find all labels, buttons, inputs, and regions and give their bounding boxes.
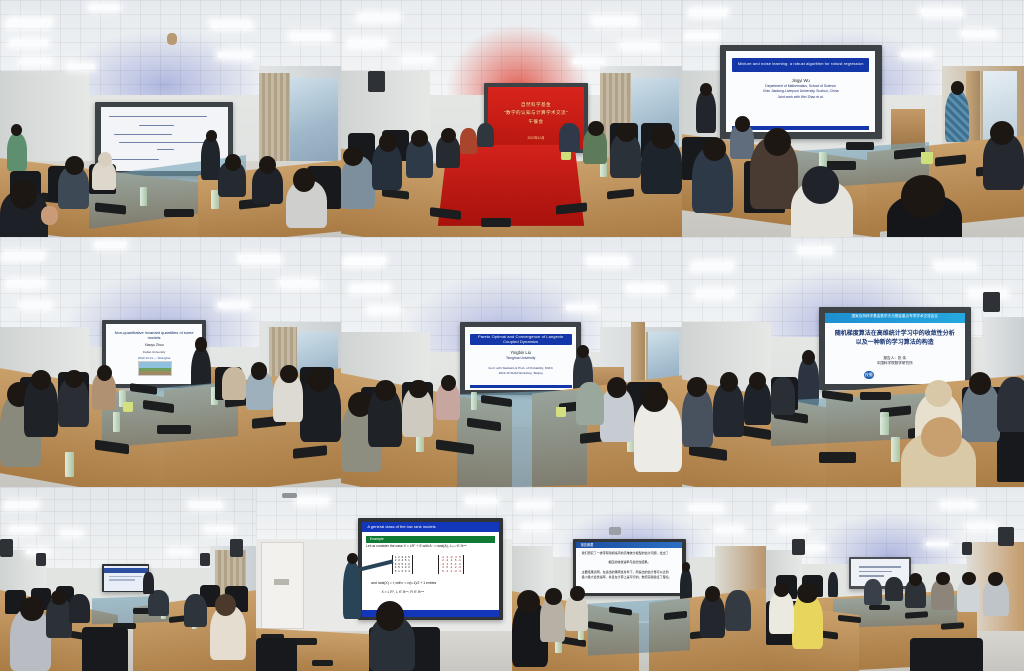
slide-author: Xiaoyu Zhou [116, 343, 192, 347]
attendee-head [570, 586, 584, 601]
door [261, 542, 304, 629]
ceiling-lamp [778, 527, 807, 532]
attendee-cap [802, 166, 840, 204]
ceiling-lamp [211, 21, 254, 28]
ceiling-lamp [6, 19, 53, 27]
speaker [945, 90, 969, 142]
drink-cup [123, 402, 133, 412]
ceiling-lamp [4, 502, 39, 508]
drink-cup [556, 407, 566, 417]
attendee-head [441, 128, 456, 143]
ceiling-lamp [95, 242, 126, 248]
slide-body: Let us consider the case X = LRᵀ + E wit… [366, 544, 495, 609]
microphone [869, 605, 890, 611]
ceiling-lamp [962, 31, 997, 37]
slide-line [109, 579, 134, 580]
slide-line-1: Let us consider the case X = LRᵀ + E wit… [366, 544, 495, 549]
photo-talk-robust-regression: Mixture and noise learning: a robust alg… [682, 0, 1024, 237]
attendee-head [31, 370, 51, 390]
slide: Non-quantitative invariant quantities of… [106, 324, 201, 384]
slide-section-band: Example [366, 536, 495, 543]
attendee-standing [7, 133, 27, 171]
wall-speaker [36, 553, 46, 566]
wall-speaker [200, 553, 210, 566]
slide-note: Joint work with Wei Zhao et al. [741, 95, 860, 100]
wall-speaker [368, 71, 385, 92]
matrix-right: -1 2 -3 4 5 2 -3 4 5 -1 -3 4 5 -1 2 4 5 … [438, 555, 464, 574]
attendee-head [20, 597, 43, 621]
ceiling-lamp [368, 307, 399, 313]
projection-screen: Pareto Optimal and Convergence of Langev… [465, 327, 576, 391]
attendee-head [215, 594, 235, 616]
photo-wide-room-audience-rear [0, 487, 256, 671]
attendee-head [51, 590, 66, 605]
speaker [828, 572, 838, 598]
ceiling-lamp [10, 40, 49, 46]
attendee [222, 367, 246, 400]
speaker-head [951, 81, 965, 95]
projection-screen: 国家自然科学基金数学天元基金重点专项学术交流会议 随机梯度算法在高维统计学习中的… [825, 313, 965, 384]
ceiling-lamp [357, 14, 400, 21]
slide-title: A general class of the low rank models [362, 522, 499, 532]
slide: Pareto Optimal and Convergence of Langev… [465, 327, 576, 391]
ceiling-lamp [189, 502, 224, 508]
slide-photo [138, 361, 172, 376]
door-sign [274, 579, 289, 585]
ceiling-lamp [689, 505, 724, 511]
wall-speaker [230, 539, 243, 557]
projection-screen-frame: Pareto Optimal and Convergence of Langev… [460, 322, 581, 395]
wall-speaker [998, 527, 1013, 545]
photo-talk-geometry-quantities: Non-quantitative invariant quantities of… [0, 237, 341, 487]
slide-affiliation: 中国科学院数学研究所 [839, 361, 951, 367]
attendee-head [735, 116, 750, 131]
slide-title: Non-quantitative invariant quantities of… [112, 330, 196, 340]
wall-speaker [983, 292, 1000, 312]
photo-talk-low-rank-models-matrices: A general class of the low rank models E… [256, 487, 512, 671]
projector [609, 527, 622, 534]
photo-cell-7[interactable] [0, 487, 256, 671]
ceiling-lamp [68, 64, 95, 69]
attendee [477, 123, 494, 147]
attendee-head [10, 180, 37, 208]
projection-screen [104, 566, 147, 590]
university-logo: 校徽 [864, 371, 874, 380]
ceiling-lamp [402, 57, 433, 62]
ceiling-lamp [573, 59, 604, 64]
microphone [157, 425, 191, 434]
attendee [864, 579, 882, 605]
ceiling-lamp [20, 59, 51, 64]
ceiling-lamp [685, 33, 720, 39]
slide-note: 2023.10.21 — Shanghai [116, 356, 192, 360]
photo-talk-langevin-dynamics: Pareto Optimal and Convergence of Langev… [341, 237, 682, 487]
slide-line-3: X = L Rᵀ, L ∈ ℝⁿˣʳ, R ∈ ℝᵐˣʳ [381, 590, 424, 595]
banner-text: 自然科学基金 "数学的认知与计算学术交流" 午餐会 [494, 101, 578, 126]
attendee-head [280, 365, 298, 384]
ceiling-lamp [204, 527, 233, 532]
microphone [860, 392, 891, 400]
attendee-head [797, 583, 818, 603]
projection-screen-frame: 报告摘要 我们研究了一类带有随机噪声的高维统计模型的估计问题，给出了 相应的收敛… [573, 539, 686, 597]
slide-title-bar: Pareto Optimal and Convergence of Langev… [470, 334, 572, 344]
speaker-head [347, 553, 358, 564]
ceiling-lamp [627, 285, 666, 292]
slide-affiliation: Fudan University [116, 350, 192, 354]
attendee-head [307, 367, 331, 392]
photo-cell-8[interactable]: A general class of the low rank models E… [256, 487, 512, 671]
speaker-head [206, 130, 217, 142]
slide-line [859, 571, 891, 573]
ceiling-lamp [695, 290, 734, 297]
attendee-head [720, 372, 738, 392]
attendee-hand [41, 206, 58, 225]
ceiling-lamp [89, 5, 120, 11]
photo-cell-9[interactable]: 报告摘要 我们研究了一类带有随机噪声的高维统计模型的估计问题，给出了 相应的收敛… [512, 487, 766, 671]
ceiling-lamp [715, 527, 744, 532]
matrix-left: 1 2 3 4 5 2 3 4 5 1 3 4 5 1 2 4 5 1 2 3 … [392, 555, 413, 574]
microphone [312, 660, 332, 666]
slide-title: Mixture and noise learning: a robust alg… [738, 62, 864, 67]
attendee-head [379, 133, 398, 152]
ceiling-lamp [218, 52, 252, 58]
ceiling-lamp [941, 502, 976, 508]
speaker-head [802, 350, 815, 365]
attendee-head [225, 154, 241, 171]
projector [167, 33, 177, 45]
attendee-head [749, 372, 766, 390]
water-bottle [891, 437, 900, 462]
attendee-head [441, 375, 456, 391]
wall-speaker [792, 539, 805, 556]
slide-footer-bar [732, 126, 869, 130]
ceiling-lamp [921, 9, 964, 16]
ceiling-lamp [296, 498, 328, 504]
attendee [725, 590, 750, 630]
attendee-head [375, 380, 395, 401]
photo-cell-3[interactable]: Mixture and noise learning: a robust alg… [682, 0, 1024, 237]
attendee-head [65, 156, 84, 175]
ceiling-lamp [279, 280, 318, 287]
slide-line [859, 575, 883, 577]
ceiling-lamp [10, 527, 39, 532]
attendee [69, 594, 89, 623]
ceiling-lamp [6, 280, 45, 287]
slide: 国家自然科学基金数学天元基金重点专项学术交流会议 随机梯度算法在高维统计学习中的… [825, 313, 965, 384]
water-bottle [65, 452, 74, 477]
attendee [559, 123, 579, 151]
attendee-head [97, 365, 112, 381]
photo-cell-1[interactable] [0, 0, 341, 237]
chair [910, 638, 982, 671]
slide-note: Conf. with Statistics & Prob. of Probabi… [474, 366, 567, 375]
ceiling-lamp [343, 257, 386, 265]
slide-title-bar: Mixture and noise learning: a robust alg… [732, 58, 869, 72]
slide-header: 报告摘要 [576, 542, 682, 550]
slide-header: 国家自然科学基金数学天元基金重点专项学术交流会议 [825, 313, 965, 320]
attendee-head [925, 380, 952, 408]
slide-footer-bar [470, 385, 572, 388]
attendee [997, 377, 1024, 432]
ceiling-lamp [620, 43, 659, 49]
attendee-standing [696, 90, 717, 133]
ceiling-lamp [592, 17, 638, 25]
microphone [481, 218, 512, 227]
ceiling-lamp [2, 252, 45, 260]
wall-speaker [962, 542, 972, 555]
water-bottle [113, 412, 121, 432]
photo-collage: 自然科学基金 "数学的认知与计算学术交流" 午餐会 2023年10月 [0, 0, 1024, 671]
attendee-head [588, 121, 604, 136]
attendee-head [700, 83, 712, 96]
slide-title-bar [104, 568, 147, 573]
slide: 报告摘要 我们研究了一类带有随机噪声的高维统计模型的估计问题，给出了 相应的收敛… [576, 542, 682, 593]
attendee-head [545, 588, 562, 605]
ceiling-lamp [802, 546, 825, 550]
attendee [885, 577, 903, 601]
ceiling-lamp [289, 33, 331, 40]
ceiling-lamp [691, 262, 734, 270]
ceiling-lamp [934, 262, 977, 270]
drink-cup [561, 150, 571, 159]
ceiling-lamp [351, 285, 390, 292]
attendee-head [687, 377, 706, 397]
ceiling-lamp [586, 257, 629, 265]
ceiling-lamp [566, 305, 597, 311]
slide-section: Example [366, 536, 495, 543]
slide-title-bar: A general class of the low rank models [362, 522, 499, 532]
attendee-head [409, 380, 427, 399]
ceiling-lamp [516, 502, 551, 508]
slide-line [859, 566, 901, 568]
slide-title: Pareto Optimal and Convergence of Langev… [473, 335, 569, 344]
attendee [184, 594, 207, 627]
photo-talk-chinese-title-slide: 国家自然科学基金数学天元基金重点专项学术交流会议 随机梯度算法在高维统计学习中的… [682, 237, 1024, 487]
attendee-standing [143, 572, 153, 594]
attendee-head [517, 590, 540, 614]
slide-header-bar: 国家自然科学基金数学天元基金重点专项学术交流会议 [825, 313, 965, 323]
photo-lecture-whiteboard-handwriting [0, 0, 341, 237]
chair [82, 627, 128, 671]
attendee-head [901, 175, 945, 218]
attendee-head [376, 601, 404, 630]
photo-cell-4[interactable]: Non-quantitative invariant quantities of… [0, 237, 341, 487]
photo-opening-ceremony-red-banner: 自然科学基金 "数学的认知与计算学术交流" 午餐会 2023年10月 [341, 0, 682, 237]
slide-body: 我们研究了一类带有随机噪声的高维统计模型的估计问题，给出了 相应的收敛速率与最优… [582, 551, 677, 581]
photo-cell-5[interactable]: Pareto Optimal and Convergence of Langev… [341, 237, 682, 487]
slide-subtitle: Jingyi Wu Department of Mathematics, Sch… [741, 78, 860, 100]
ceiling-lamp [347, 40, 386, 47]
attendee-head [98, 152, 112, 167]
attendee-head [343, 147, 363, 166]
ceiling-lamp [688, 9, 727, 16]
attendee-head [251, 362, 267, 380]
ceiling-lamp [20, 302, 51, 308]
speaker-head [682, 562, 690, 571]
slide-author-block: 报告人：张 伟 中国科学院数学研究所 [839, 356, 951, 368]
slide-affiliation: Tsinghua University [476, 356, 565, 361]
projection-screen: Non-quantitative invariant quantities of… [106, 324, 201, 384]
projector [282, 493, 297, 499]
speaker [201, 137, 220, 180]
water-bottle [140, 187, 148, 206]
microphone [846, 142, 873, 150]
water-bottle [471, 392, 478, 410]
projection-screen-frame: 国家自然科学基金数学天元基金重点专项学术交流会议 随机梯度算法在高维统计学习中的… [819, 307, 971, 390]
attendee [576, 382, 603, 425]
ceiling-lamp [776, 505, 808, 511]
ceiling-lamp [61, 531, 81, 535]
attendee [460, 128, 477, 154]
projection-screen: 报告摘要 我们研究了一类带有随机噪声的高维统计模型的估计问题，给出了 相应的收敛… [576, 542, 682, 593]
slide-line-2: and rank(X) = r, with r = n(n-1)/2 + 1 e… [371, 581, 436, 586]
slide-header-bar: 报告摘要 [576, 542, 682, 548]
wall-speaker [0, 539, 13, 557]
photo-talk-text-slide-standing-speaker: 报告摘要 我们研究了一类带有随机噪声的高维统计模型的估计问题，给出了 相应的收敛… [512, 487, 766, 671]
ceiling-lamp [465, 498, 497, 504]
ceiling-lamp [169, 550, 192, 554]
ceiling-lamp [218, 302, 249, 308]
photo-wide-room-full-audience [766, 487, 1024, 671]
attendee-head [990, 121, 1014, 145]
attendee [148, 590, 168, 616]
slide-title: 随机梯度算法在高维统计学习中的收敛性分析 以及一种新的学习算法的构造 [833, 330, 956, 347]
microphone [164, 209, 195, 218]
drink-cup [921, 152, 933, 164]
slide-affiliation: Department of Mathematics, School of Sci… [741, 84, 860, 94]
ceiling-lamp [926, 542, 949, 546]
ceiling-lamp [238, 255, 281, 263]
chair [256, 638, 297, 671]
photo-cell-10[interactable] [766, 487, 1024, 671]
ceiling-lamp [967, 524, 996, 529]
attendee-head [969, 372, 991, 395]
ceiling-lamp [798, 247, 832, 254]
slide-line [109, 576, 142, 577]
ceiling-lamp [901, 52, 932, 57]
water-bottle [880, 412, 888, 435]
photo-cell-2[interactable]: 自然科学基金 "数学的认知与计算学术交流" 午餐会 2023年10月 [341, 0, 682, 237]
microphone [819, 452, 857, 463]
photo-cell-6[interactable]: 国家自然科学基金数学天元基金重点专项学术交流会议 随机梯度算法在高维统计学习中的… [682, 237, 1024, 487]
attendee [771, 377, 795, 415]
attendee-head [11, 124, 22, 136]
ceiling-lamp [522, 524, 551, 529]
slide-subtitle: Yingbin Liu Tsinghua University [476, 350, 565, 361]
